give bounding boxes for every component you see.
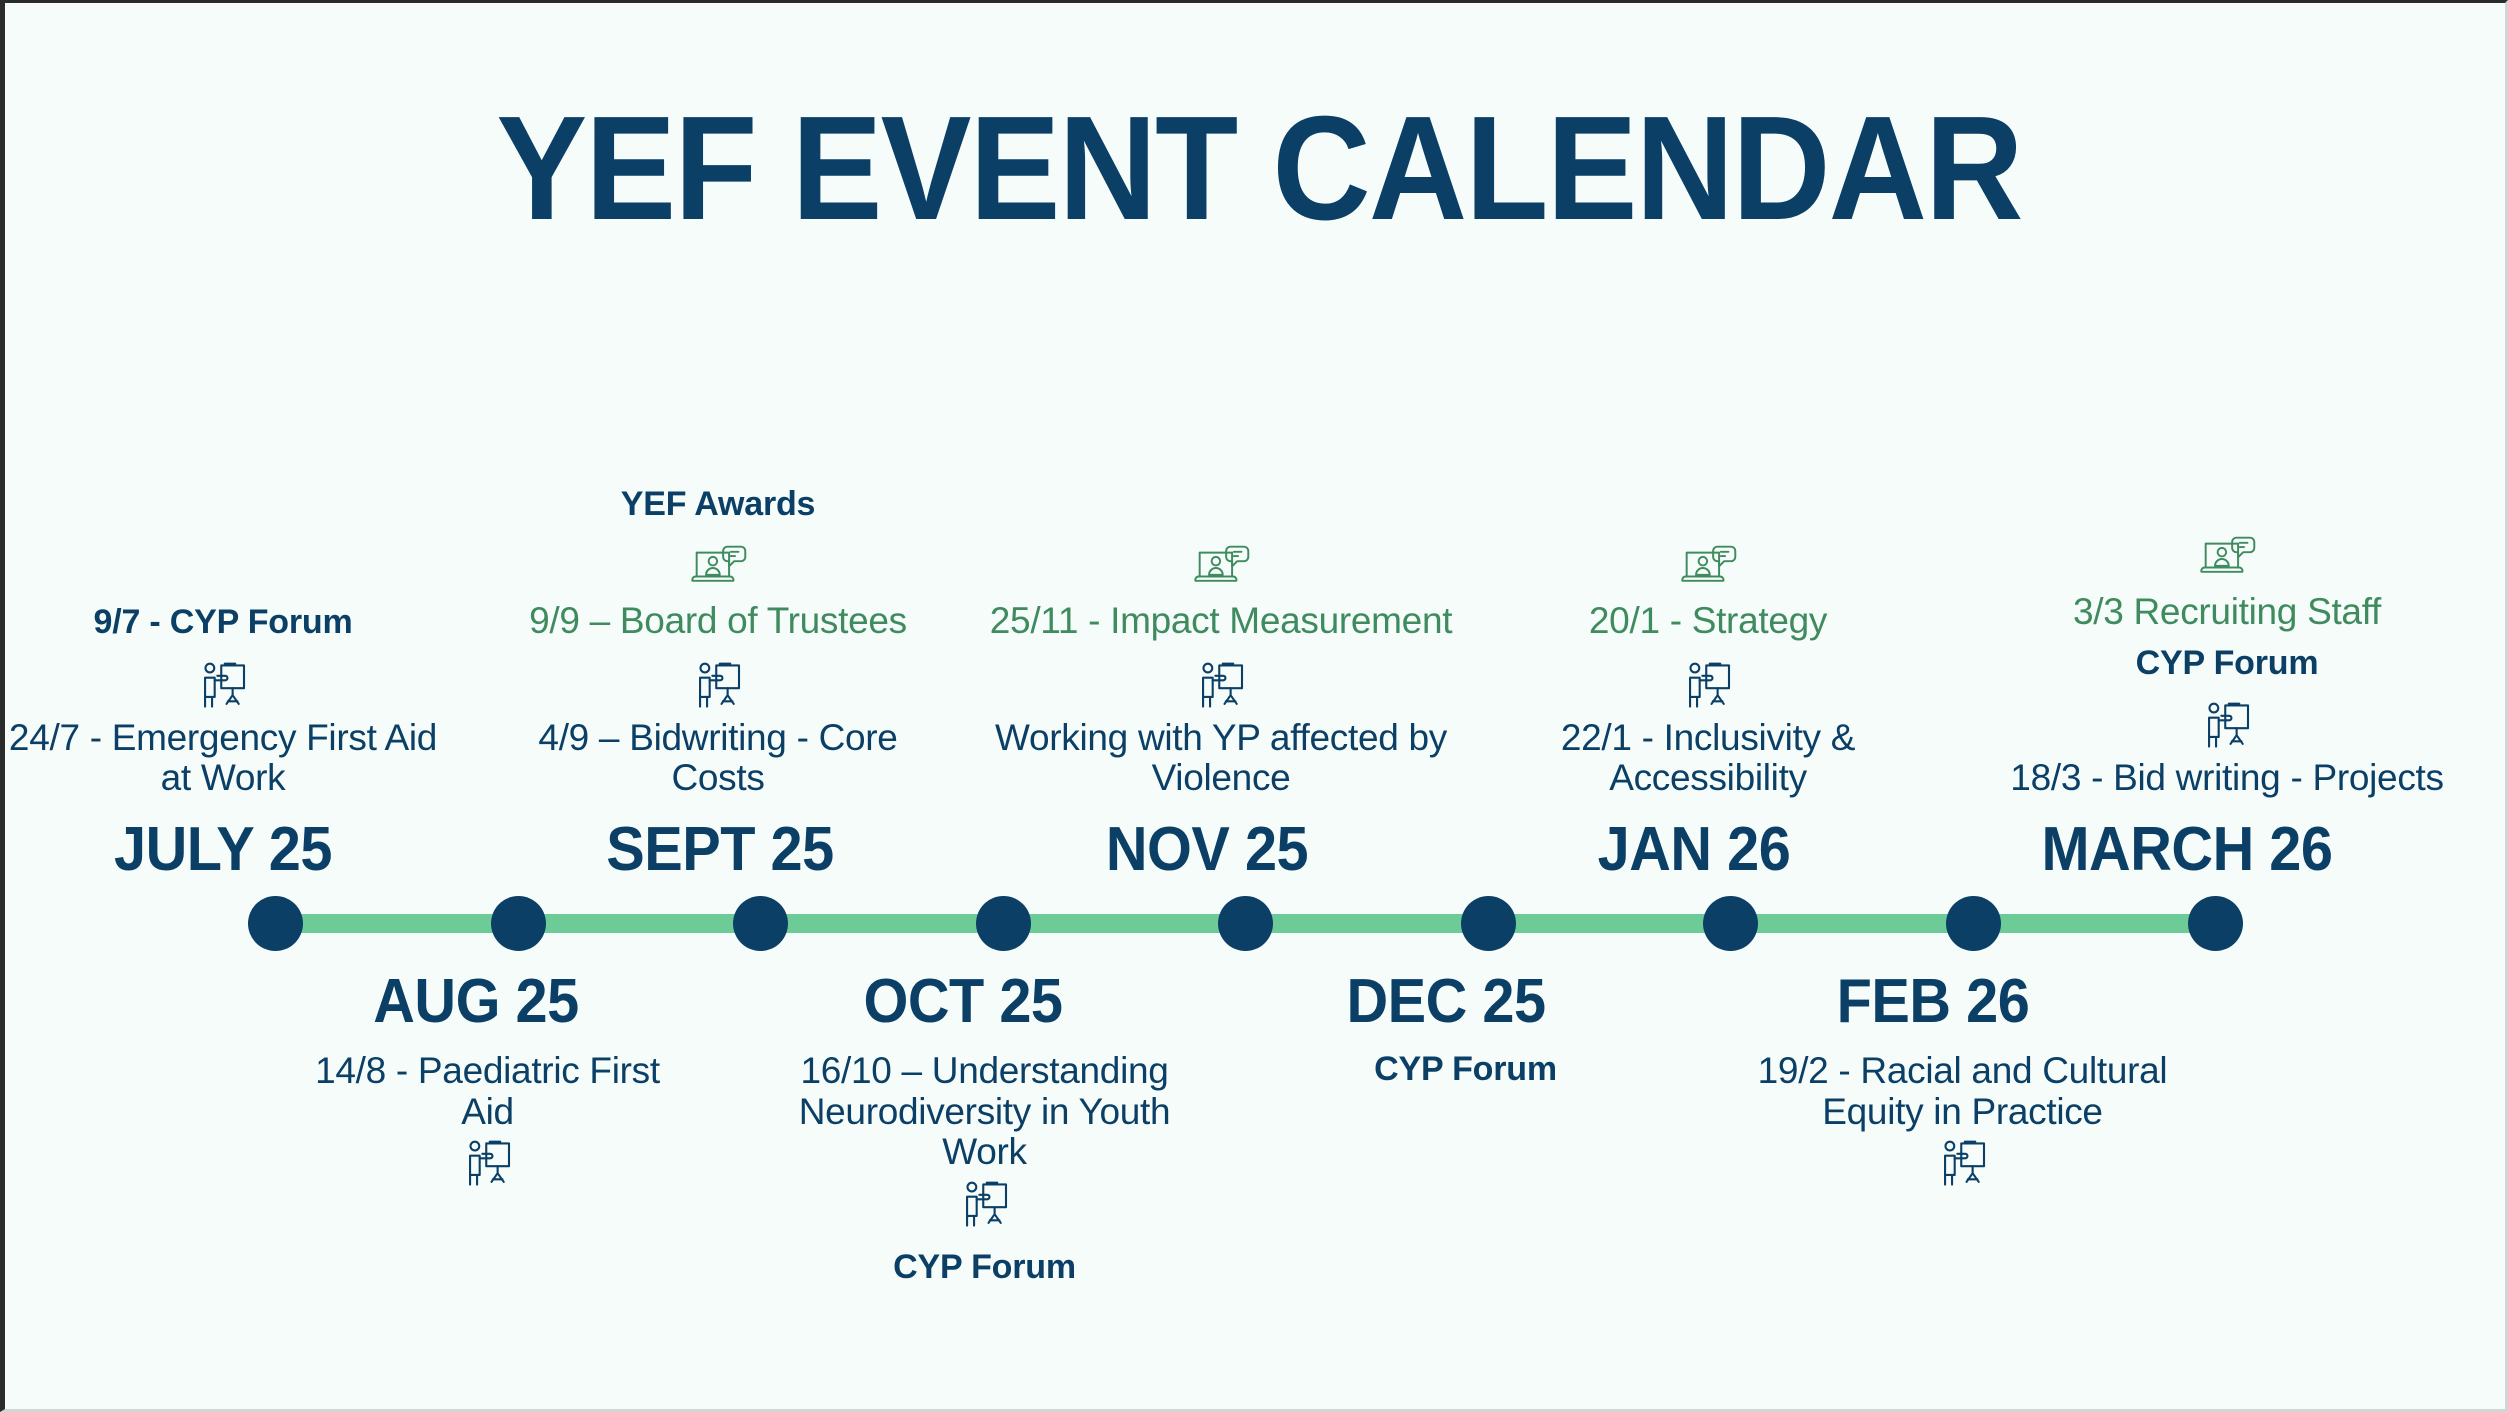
month-label-aug-25: AUG 25 (262, 971, 690, 1033)
event-text: Working with YP affected by Violence (986, 718, 1456, 799)
event-column-march-26: 3/3 Recruiting StaffCYP Forum18/3 - Bid … (1992, 526, 2462, 799)
month-label-sept-25: SEPT 25 (506, 819, 934, 881)
presenter-board-icon (460, 1136, 516, 1192)
event-text: 24/7 - Emergency First Aid at Work (8, 718, 438, 799)
webinar-icon (1679, 539, 1737, 597)
event-column-july-25: 9/7 - CYP Forum24/7 - Emergency First Ai… (8, 604, 438, 799)
event-column-dec-25: CYP Forum (1296, 1051, 1636, 1088)
presenter-board-icon (690, 658, 746, 714)
page-title: YEF EVENT CALENDAR (105, 95, 2412, 243)
event-text: 22/1 - Inclusivity & Accessibility (1493, 718, 1923, 799)
presenter-board-icon (2199, 698, 2255, 754)
presenter-board-icon (1935, 1136, 1991, 1192)
timeline-dot-6 (1461, 896, 1516, 951)
event-text: CYP Forum (1374, 1051, 1557, 1088)
event-text: 3/3 Recruiting Staff (2073, 592, 2381, 633)
timeline-dot-9 (2188, 896, 2243, 951)
webinar-icon (1192, 539, 1250, 597)
webinar-icon (689, 539, 747, 597)
event-column-aug-25: 14/8 - Paediatric First Aid (288, 1051, 688, 1196)
event-column-oct-25: 16/10 – Understanding Neurodiversity in … (765, 1051, 1205, 1286)
timeline-dot-5 (1218, 896, 1273, 951)
presenter-board-icon (957, 1177, 1013, 1233)
event-column-sept-25: YEF Awards9/9 – Board of Trustees4/9 – B… (508, 486, 928, 799)
month-label-jan-26: JAN 26 (1480, 819, 1908, 881)
event-column-nov-25: 25/11 - Impact MeasurementWorking with Y… (986, 535, 1456, 799)
month-label-oct-25: OCT 25 (749, 971, 1177, 1033)
event-text: 19/2 - Racial and Cultural Equity in Pra… (1728, 1051, 2198, 1132)
event-text: 20/1 - Strategy (1589, 601, 1827, 642)
timeline-dot-2 (491, 896, 546, 951)
presenter-board-icon (1680, 658, 1736, 714)
presenter-board-icon (195, 658, 251, 714)
poster-canvas: YEF EVENT CALENDAR JULY 25AUG 25SEPT 25O… (0, 0, 2508, 1412)
month-label-feb-26: FEB 26 (1719, 971, 2147, 1033)
month-label-dec-25: DEC 25 (1232, 971, 1660, 1033)
month-label-march-26: MARCH 26 (1973, 819, 2401, 881)
event-column-jan-26: 20/1 - Strategy22/1 - Inclusivity & Acce… (1493, 535, 1923, 799)
event-text: 9/9 – Board of Trustees (529, 601, 907, 642)
event-text: 9/7 - CYP Forum (94, 604, 353, 641)
presenter-board-icon (1193, 658, 1249, 714)
timeline-dot-7 (1703, 896, 1758, 951)
event-text: 16/10 – Understanding Neurodiversity in … (765, 1051, 1205, 1173)
event-column-feb-26: 19/2 - Racial and Cultural Equity in Pra… (1728, 1051, 2198, 1196)
timeline-dot-4 (976, 896, 1031, 951)
event-text: CYP Forum (2136, 645, 2319, 682)
event-text: 25/11 - Impact Measurement (990, 601, 1452, 642)
event-text: CYP Forum (893, 1249, 1076, 1286)
event-text: 14/8 - Paediatric First Aid (288, 1051, 688, 1132)
timeline-dot-3 (733, 896, 788, 951)
month-label-july-25: JULY 25 (9, 819, 437, 881)
webinar-icon (2198, 530, 2256, 588)
month-label-nov-25: NOV 25 (993, 819, 1421, 881)
event-text: YEF Awards (621, 486, 816, 523)
event-text: 18/3 - Bid writing - Projects (2010, 758, 2443, 799)
timeline-dot-1 (248, 896, 303, 951)
timeline-dot-8 (1946, 896, 2001, 951)
event-text: 4/9 – Bidwriting - Core Costs (508, 718, 928, 799)
